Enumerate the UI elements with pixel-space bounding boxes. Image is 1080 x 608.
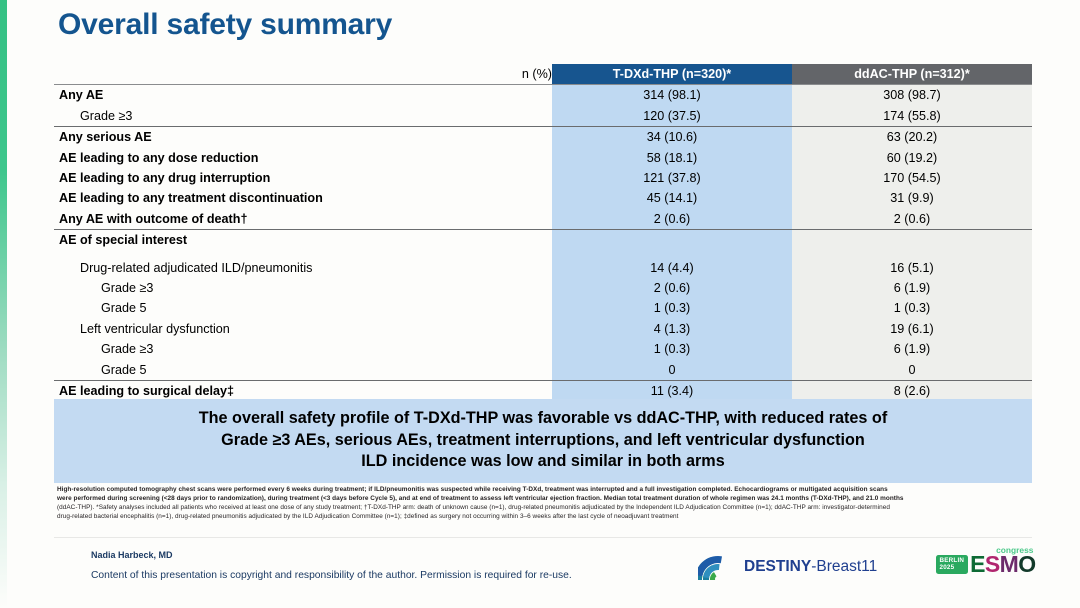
spacer-cell xyxy=(54,251,552,258)
row-label: Any serious AE xyxy=(54,127,552,148)
esmo-year: 2025 xyxy=(940,565,965,572)
footnotes: High-resolution computed tomography ches… xyxy=(57,486,1027,522)
esmo-letter-s: S xyxy=(985,553,1000,576)
table-row: Any AE with outcome of death† 2 (0.6) 2 … xyxy=(54,209,1032,230)
row-label: Drug-related adjudicated ILD/pneumonitis xyxy=(54,258,552,278)
row-value-tdxd: 1 (0.3) xyxy=(552,339,792,359)
row-value-tdxd: 34 (10.6) xyxy=(552,127,792,148)
footnote-line-3: (ddAC-THP). *Safety analyses included al… xyxy=(57,504,1027,513)
left-accent-bar xyxy=(0,0,7,608)
safety-summary-table-container: n (%) T-DXd-THP (n=320)* ddAC-THP (n=312… xyxy=(54,64,1032,403)
table-row: AE leading to any drug interruption 121 … xyxy=(54,168,1032,188)
row-value-tdxd: 1 (0.3) xyxy=(552,298,792,318)
destiny-fan-icon xyxy=(698,554,738,580)
row-value-tdxd: 314 (98.1) xyxy=(552,85,792,106)
table-row: Grade ≥3 120 (37.5) 174 (55.8) xyxy=(54,106,1032,127)
table-spacer-row xyxy=(54,251,1032,258)
spacer-cell-tdxd xyxy=(552,251,792,258)
table-row: Any AE 314 (98.1) 308 (98.7) xyxy=(54,85,1032,106)
esmo-letter-m: M xyxy=(1000,553,1019,576)
column-header-arm-tdxd: T-DXd-THP (n=320)* xyxy=(552,64,792,85)
row-value-ddac: 6 (1.9) xyxy=(792,339,1032,359)
row-label: Grade ≥3 xyxy=(54,106,552,127)
footnote-line-1: High-resolution computed tomography ches… xyxy=(57,486,1027,495)
callout-line-1: The overall safety profile of T-DXd-THP … xyxy=(84,408,1002,430)
row-value-tdxd: 2 (0.6) xyxy=(552,209,792,230)
row-label: AE leading to any dose reduction xyxy=(54,148,552,168)
row-value-tdxd: 4 (1.3) xyxy=(552,319,792,339)
row-value-tdxd: 2 (0.6) xyxy=(552,278,792,298)
page-title: Overall safety summary xyxy=(58,8,392,42)
row-value-tdxd: 14 (4.4) xyxy=(552,258,792,278)
row-value-ddac: 60 (19.2) xyxy=(792,148,1032,168)
esmo-congress-word: congress xyxy=(996,545,1033,555)
row-label: Any AE xyxy=(54,85,552,106)
column-header-unit: n (%) xyxy=(54,64,552,85)
spacer-cell-ddac xyxy=(792,251,1032,258)
row-label: Grade 5 xyxy=(54,298,552,318)
footer-divider xyxy=(54,537,1032,538)
row-label: Grade ≥3 xyxy=(54,339,552,359)
esmo-city-badge: BERLIN 2025 xyxy=(936,555,968,574)
row-value-tdxd: 0 xyxy=(552,360,792,381)
esmo-wordmark: E S M O congress xyxy=(970,553,1035,576)
esmo-letter-o: O xyxy=(1018,553,1035,576)
table-row: AE leading to any dose reduction 58 (18.… xyxy=(54,148,1032,168)
table-row: AE of special interest xyxy=(54,230,1032,251)
destiny-breast11-logo: DESTINY-Breast11 xyxy=(698,554,877,580)
table-row: Grade ≥3 1 (0.3) 6 (1.9) xyxy=(54,339,1032,359)
destiny-brand: DESTINY xyxy=(744,558,811,575)
callout-line-3: ILD incidence was low and similar in bot… xyxy=(84,451,1002,473)
table-header-row: n (%) T-DXd-THP (n=320)* ddAC-THP (n=312… xyxy=(54,64,1032,85)
row-value-tdxd xyxy=(552,230,792,251)
conclusion-callout: The overall safety profile of T-DXd-THP … xyxy=(54,399,1032,483)
row-value-tdxd: 45 (14.1) xyxy=(552,188,792,208)
row-value-ddac: 16 (5.1) xyxy=(792,258,1032,278)
row-value-ddac xyxy=(792,230,1032,251)
table-row: Grade 5 1 (0.3) 1 (0.3) xyxy=(54,298,1032,318)
table-row: Grade ≥3 2 (0.6) 6 (1.9) xyxy=(54,278,1032,298)
footnote-line-4: drug-related bacterial encephalitis (n=1… xyxy=(57,513,1027,522)
row-value-ddac: 19 (6.1) xyxy=(792,319,1032,339)
column-header-arm-ddac: ddAC-THP (n=312)* xyxy=(792,64,1032,85)
row-value-ddac: 31 (9.9) xyxy=(792,188,1032,208)
row-label: Any AE with outcome of death† xyxy=(54,209,552,230)
row-value-ddac: 308 (98.7) xyxy=(792,85,1032,106)
esmo-congress-logo: BERLIN 2025 E S M O congress xyxy=(936,553,1036,576)
row-label: Left ventricular dysfunction xyxy=(54,319,552,339)
row-value-tdxd: 120 (37.5) xyxy=(552,106,792,127)
row-value-ddac: 1 (0.3) xyxy=(792,298,1032,318)
row-label: AE leading to any treatment discontinuat… xyxy=(54,188,552,208)
row-value-ddac: 0 xyxy=(792,360,1032,381)
row-label: Grade ≥3 xyxy=(54,278,552,298)
destiny-logo-text: DESTINY-Breast11 xyxy=(744,558,877,576)
row-label: Grade 5 xyxy=(54,360,552,381)
row-value-tdxd: 58 (18.1) xyxy=(552,148,792,168)
table-row: Any serious AE 34 (10.6) 63 (20.2) xyxy=(54,127,1032,148)
row-value-ddac: 63 (20.2) xyxy=(792,127,1032,148)
row-value-ddac: 2 (0.6) xyxy=(792,209,1032,230)
destiny-suffix: -Breast11 xyxy=(811,558,877,575)
copyright-notice: Content of this presentation is copyrigh… xyxy=(91,570,572,581)
table-row: Left ventricular dysfunction 4 (1.3) 19 … xyxy=(54,319,1032,339)
table-row: AE leading to any treatment discontinuat… xyxy=(54,188,1032,208)
safety-summary-table: n (%) T-DXd-THP (n=320)* ddAC-THP (n=312… xyxy=(54,64,1032,403)
footnote-line-2: were performed during screening (<28 day… xyxy=(57,495,1027,504)
table-row: Grade 5 0 0 xyxy=(54,360,1032,381)
presenter-name: Nadia Harbeck, MD xyxy=(91,550,173,560)
esmo-letters: E S M O xyxy=(970,553,1035,576)
row-value-tdxd: 121 (37.8) xyxy=(552,168,792,188)
row-label: AE of special interest xyxy=(54,230,552,251)
callout-line-2: Grade ≥3 AEs, serious AEs, treatment int… xyxy=(84,430,1002,452)
row-label: AE leading to any drug interruption xyxy=(54,168,552,188)
row-value-ddac: 174 (55.8) xyxy=(792,106,1032,127)
table-row: Drug-related adjudicated ILD/pneumonitis… xyxy=(54,258,1032,278)
row-value-ddac: 170 (54.5) xyxy=(792,168,1032,188)
row-value-ddac: 6 (1.9) xyxy=(792,278,1032,298)
esmo-letter-e: E xyxy=(970,553,985,576)
